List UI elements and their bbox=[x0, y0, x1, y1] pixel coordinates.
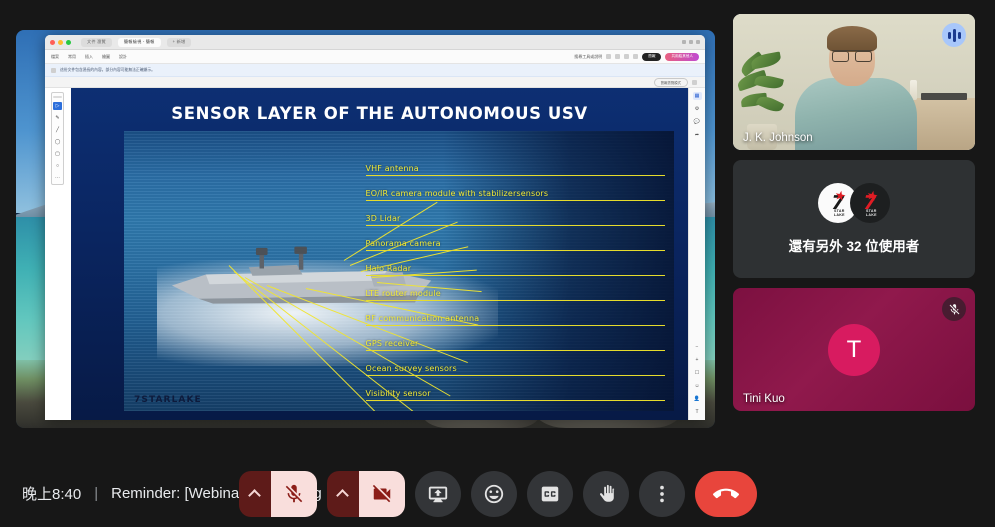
info-icon bbox=[51, 68, 56, 73]
person-hair bbox=[827, 26, 877, 52]
slide-watermark: 7STARLAKE bbox=[134, 395, 202, 405]
participant-name: J. K. Johnson bbox=[743, 132, 813, 144]
document-notice-bar: 這份文件包含過長的內容。部分內容可能無法正確顯示。 bbox=[45, 64, 705, 77]
ribbon-menu-draw[interactable]: 繪圖 bbox=[102, 54, 110, 60]
person-torso bbox=[795, 78, 917, 150]
presentation-slide: SENSOR LAYER OF THE AUTONOMOUS USV bbox=[71, 88, 688, 420]
share-button[interactable]: 共用給其他人 bbox=[665, 53, 699, 61]
raise-hand-button[interactable] bbox=[583, 471, 629, 517]
rail-bottom-group[interactable]: − + ☐ ☺ 👤 T bbox=[693, 343, 702, 420]
logo-star-icon: ★ bbox=[833, 188, 847, 203]
chevron-up-icon bbox=[248, 489, 261, 502]
sensor-label-row: Panorama camera bbox=[366, 226, 669, 251]
zoom-out-icon[interactable]: − bbox=[693, 343, 702, 351]
close-icon[interactable] bbox=[50, 40, 55, 45]
lasso-tool-icon[interactable]: ○ bbox=[53, 162, 62, 170]
present-button[interactable]: 簡報 bbox=[642, 53, 661, 61]
meeting-time: 晚上8:40 bbox=[22, 483, 81, 504]
sensor-label-text: Ocean survey sensors bbox=[366, 364, 457, 373]
participant-name: Tini Kuo bbox=[743, 393, 785, 405]
microphone-toggle-button[interactable] bbox=[271, 471, 317, 517]
camera-menu-button[interactable] bbox=[327, 471, 359, 517]
view-mode-pill[interactable]: 簡報瀏覽模式 bbox=[654, 78, 688, 87]
sensor-label-row: VHF antenna bbox=[366, 151, 669, 176]
select-tool-icon[interactable]: ▷ bbox=[53, 102, 62, 110]
captions-button[interactable] bbox=[527, 471, 573, 517]
settings-icon[interactable]: ⚙ bbox=[693, 105, 702, 113]
logo-star-icon: ★ bbox=[865, 188, 879, 203]
shared-app-window[interactable]: 文件 瀏覽 簡報檢視 - 簡報 + 新增 檔案 常用 插入 繪圖 設計 搜尋工具… bbox=[45, 35, 705, 420]
more-tools-icon[interactable]: ⋯ bbox=[53, 174, 62, 182]
fit-screen-icon[interactable]: ☐ bbox=[693, 369, 702, 377]
sensor-label-row: GPS receiver bbox=[366, 326, 669, 351]
mic-off-icon bbox=[942, 297, 966, 321]
sensor-label-row: 3D Lidar bbox=[366, 201, 669, 226]
logo-subtext: STARLAKE bbox=[834, 209, 845, 217]
microphone-control[interactable] bbox=[239, 471, 317, 517]
shelf-object bbox=[921, 93, 967, 100]
minimize-icon[interactable] bbox=[58, 40, 63, 45]
view-mode-bar[interactable]: 簡報瀏覽模式 bbox=[45, 77, 705, 88]
google-meet-window: 文件 瀏覽 簡報檢視 - 簡報 + 新增 檔案 常用 插入 繪圖 設計 搜尋工具… bbox=[0, 0, 995, 527]
avatar-logo-dark: 7 ★ STARLAKE bbox=[850, 183, 890, 223]
camera-feed bbox=[733, 14, 975, 150]
traffic-lights[interactable] bbox=[50, 40, 71, 45]
window-body: ▷ ✎ ╱ ◯ ▢ ○ ⋯ SENSOR LAYER OF THE AUTONO… bbox=[45, 88, 705, 420]
window-action-icon[interactable] bbox=[682, 40, 686, 44]
sensor-label-row: Ocean survey sensors bbox=[366, 351, 669, 376]
sensor-label-text: EO/IR camera module with stabilizersenso… bbox=[366, 189, 549, 198]
maximize-icon[interactable] bbox=[66, 40, 71, 45]
sensor-label-row: Halo Radar bbox=[366, 251, 669, 276]
chevron-right-icon[interactable] bbox=[692, 80, 697, 85]
participant-tile-overflow[interactable]: 7 ★ STARLAKE 7 ★ STARLAKE 還有另外 32 位使用者 bbox=[733, 160, 975, 278]
slide-title: SENSOR LAYER OF THE AUTONOMOUS USV bbox=[71, 104, 688, 123]
window-titlebar[interactable]: 文件 瀏覽 簡報檢視 - 簡報 + 新增 bbox=[45, 35, 705, 50]
sensor-label-row: EO/IR camera module with stabilizersenso… bbox=[366, 176, 669, 201]
call-controls bbox=[239, 471, 757, 517]
window-action-icon[interactable] bbox=[696, 40, 700, 44]
new-tab-button[interactable]: + 新增 bbox=[167, 38, 192, 47]
sensor-label-row: LTE router module bbox=[366, 276, 669, 301]
sensor-label-row: RF communication antenna bbox=[366, 301, 669, 326]
sensor-label-text: Halo Radar bbox=[366, 264, 412, 273]
slide-photo: VHF antenna EO/IR camera module with sta… bbox=[124, 131, 674, 411]
camera-toggle-button[interactable] bbox=[359, 471, 405, 517]
floating-tool-palette[interactable]: ▷ ✎ ╱ ◯ ▢ ○ ⋯ bbox=[51, 92, 64, 185]
titlebar-actions[interactable] bbox=[682, 40, 700, 44]
meta-separator: | bbox=[94, 485, 98, 502]
pointer-icon[interactable]: ➦ bbox=[693, 131, 702, 139]
participant-tile-avatar[interactable]: T Tini Kuo bbox=[733, 288, 975, 411]
ribbon-right-actions[interactable]: 搜尋工具或說明 簡報 共用給其他人 bbox=[574, 53, 699, 61]
sensor-label-row: Visibility sensor bbox=[366, 376, 669, 401]
overflow-avatars: 7 ★ STARLAKE 7 ★ STARLAKE bbox=[818, 183, 890, 223]
more-options-button[interactable] bbox=[639, 471, 685, 517]
text-icon[interactable]: T bbox=[693, 408, 702, 416]
present-screen-button[interactable] bbox=[415, 471, 461, 517]
ribbon-menu-design[interactable]: 設計 bbox=[119, 54, 127, 60]
avatar: T bbox=[828, 324, 880, 376]
sensor-label-text: RF communication antenna bbox=[366, 314, 480, 323]
reactions-button[interactable] bbox=[471, 471, 517, 517]
chevron-up-icon bbox=[336, 489, 349, 502]
end-call-button[interactable] bbox=[695, 471, 757, 517]
person-icon[interactable]: 👤 bbox=[693, 395, 702, 403]
pen-tool-icon[interactable]: ✎ bbox=[53, 114, 62, 122]
participant-tile-list: J. K. Johnson 7 ★ STARLAKE 7 ★ STARLAKE … bbox=[733, 14, 975, 421]
participant-tile-speaker[interactable]: J. K. Johnson bbox=[733, 14, 975, 150]
shared-screen-stage[interactable]: 文件 瀏覽 簡報檢視 - 簡報 + 新增 檔案 常用 插入 繪圖 設計 搜尋工具… bbox=[16, 30, 715, 428]
camera-control[interactable] bbox=[327, 471, 405, 517]
comment-icon[interactable] bbox=[615, 54, 620, 59]
shape-tool-icon[interactable]: ▢ bbox=[53, 150, 62, 158]
tab-document[interactable]: 文件 瀏覽 bbox=[81, 38, 112, 47]
sensor-label-text: Panorama camera bbox=[366, 239, 441, 248]
comment-icon[interactable]: 💬 bbox=[693, 118, 702, 126]
browser-tabs[interactable]: 文件 瀏覽 簡報檢視 - 簡報 + 新增 bbox=[81, 38, 191, 47]
ribbon-menu-home[interactable]: 常用 bbox=[68, 54, 76, 60]
logo-subtext: STARLAKE bbox=[866, 209, 877, 217]
chat-icon[interactable] bbox=[633, 54, 638, 59]
sensor-label-text: 3D Lidar bbox=[366, 214, 401, 223]
label-underline bbox=[366, 400, 666, 401]
highlighter-tool-icon[interactable]: ╱ bbox=[53, 126, 62, 134]
pen-icon[interactable] bbox=[606, 54, 611, 59]
sensor-label-list: VHF antenna EO/IR camera module with sta… bbox=[366, 151, 669, 401]
undo-icon[interactable] bbox=[624, 54, 629, 59]
palette-drag-handle[interactable] bbox=[53, 96, 62, 98]
window-action-icon[interactable] bbox=[689, 40, 693, 44]
ribbon-menu-insert[interactable]: 插入 bbox=[85, 54, 93, 60]
ribbon-search-label[interactable]: 搜尋工具或說明 bbox=[574, 54, 602, 60]
accessibility-icon[interactable]: ☺ bbox=[693, 382, 702, 390]
eraser-tool-icon[interactable]: ◯ bbox=[53, 138, 62, 146]
ribbon-menu-file[interactable]: 檔案 bbox=[51, 54, 59, 60]
sensor-label-text: LTE router module bbox=[366, 289, 441, 298]
sensor-label-text: GPS receiver bbox=[366, 339, 419, 348]
bottom-control-bar: 晚上8:40 | Reminder: [Webinar] Advancing .… bbox=[0, 460, 995, 527]
microphone-menu-button[interactable] bbox=[239, 471, 271, 517]
right-icon-rail[interactable]: ▦ ⚙ 💬 ➦ − + ☐ ☺ 👤 T bbox=[688, 88, 705, 420]
glasses-icon bbox=[832, 50, 872, 59]
app-ribbon[interactable]: 檔案 常用 插入 繪圖 設計 搜尋工具或說明 簡報 共用給其他人 bbox=[45, 50, 705, 64]
notice-text: 這份文件包含過長的內容。部分內容可能無法正確顯示。 bbox=[60, 68, 155, 73]
sensor-label-text: Visibility sensor bbox=[366, 389, 431, 398]
zoom-in-icon[interactable]: + bbox=[693, 356, 702, 364]
speaking-indicator-icon bbox=[942, 23, 966, 47]
sensor-label-text: VHF antenna bbox=[366, 164, 419, 173]
tab-presentation[interactable]: 簡報檢視 - 簡報 bbox=[118, 38, 161, 47]
overflow-count-label: 還有另外 32 位使用者 bbox=[789, 235, 920, 255]
slides-panel-icon[interactable]: ▦ bbox=[693, 92, 702, 100]
